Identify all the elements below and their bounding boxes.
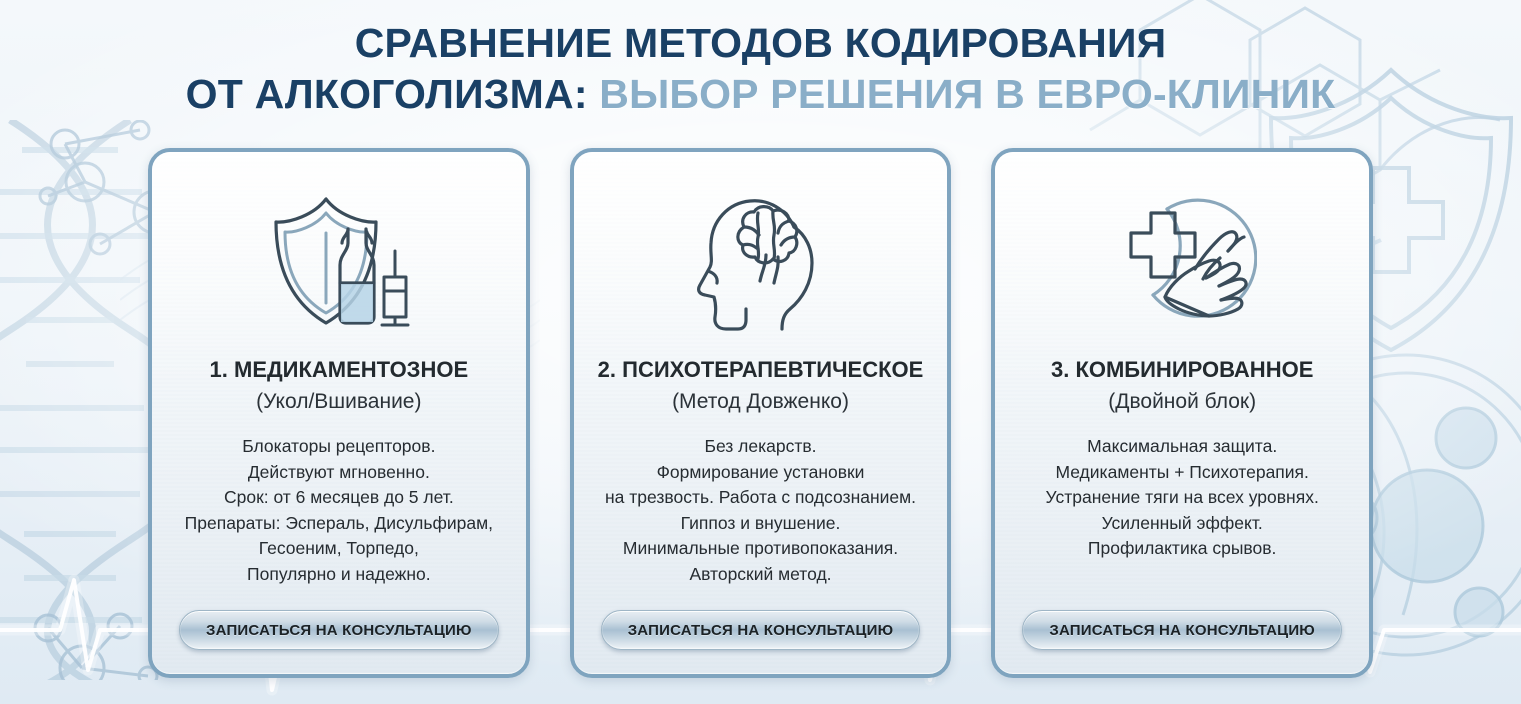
cta-wrapper: ЗАПИСАТЬСЯ НА КОНСУЛЬТАЦИЮ bbox=[152, 610, 526, 650]
method-cards-row: 1. МЕДИКАМЕНТОЗНОЕ (Укол/Вшивание) Блока… bbox=[148, 148, 1373, 678]
card-heading: 2. ПСИХОТЕРАПЕВТИЧЕСКОЕ bbox=[598, 356, 924, 384]
description-line: Усиленный эффект. bbox=[1046, 511, 1319, 537]
cross-helping-hands-icon bbox=[1107, 186, 1257, 336]
description-line: Максимальная защита. bbox=[1046, 434, 1319, 460]
shield-ampoule-syringe-icon bbox=[264, 186, 414, 336]
title-line-2-light: ВЫБОР РЕШЕНИЯ В ЕВРО-КЛИНИК bbox=[599, 71, 1335, 117]
description-line: Гиппоз и внушение. bbox=[605, 511, 916, 537]
description-line: Профилактика срывов. bbox=[1046, 536, 1319, 562]
description-line: Блокаторы рецепторов. bbox=[185, 434, 493, 460]
title-line-1: СРАВНЕНИЕ МЕТОДОВ КОДИРОВАНИЯ bbox=[0, 18, 1521, 69]
card-description: Максимальная защита. Медикаменты + Психо… bbox=[1036, 434, 1329, 562]
card-subheading: (Двойной блок) bbox=[1108, 388, 1256, 415]
description-line: Гесоеним, Торпедо, bbox=[185, 536, 493, 562]
description-line: Авторский метод. bbox=[605, 562, 916, 588]
description-line: Популярно и надежно. bbox=[185, 562, 493, 588]
description-line: Устранение тяги на всех уровнях. bbox=[1046, 485, 1319, 511]
page-title: СРАВНЕНИЕ МЕТОДОВ КОДИРОВАНИЯ ОТ АЛКОГОЛ… bbox=[0, 18, 1521, 120]
card-description: Без лекарств. Формирование установки на … bbox=[595, 434, 926, 587]
infographic-banner: СРАВНЕНИЕ МЕТОДОВ КОДИРОВАНИЯ ОТ АЛКОГОЛ… bbox=[0, 0, 1521, 704]
method-card-psychotherapeutic: 2. ПСИХОТЕРАПЕВТИЧЕСКОЕ (Метод Довженко)… bbox=[570, 148, 952, 678]
cta-wrapper: ЗАПИСАТЬСЯ НА КОНСУЛЬТАЦИЮ bbox=[995, 610, 1369, 650]
book-consultation-button[interactable]: ЗАПИСАТЬСЯ НА КОНСУЛЬТАЦИЮ bbox=[601, 610, 921, 650]
head-brain-icon bbox=[686, 186, 836, 336]
method-card-medicamentous: 1. МЕДИКАМЕНТОЗНОЕ (Укол/Вшивание) Блока… bbox=[148, 148, 530, 678]
card-heading: 1. МЕДИКАМЕНТОЗНОЕ bbox=[210, 356, 469, 384]
cta-wrapper: ЗАПИСАТЬСЯ НА КОНСУЛЬТАЦИЮ bbox=[574, 610, 948, 650]
book-consultation-button[interactable]: ЗАПИСАТЬСЯ НА КОНСУЛЬТАЦИЮ bbox=[1022, 610, 1342, 650]
description-line: Минимальные противопоказания. bbox=[605, 536, 916, 562]
title-line-2: ОТ АЛКОГОЛИЗМА: ВЫБОР РЕШЕНИЯ В ЕВРО-КЛИ… bbox=[0, 69, 1521, 120]
description-line: на трезвость. Работа с подсознанием. bbox=[605, 485, 916, 511]
description-line: Действуют мгновенно. bbox=[185, 460, 493, 486]
title-line-2-dark: ОТ АЛКОГОЛИЗМА: bbox=[186, 71, 600, 117]
card-subheading: (Укол/Вшивание) bbox=[256, 388, 421, 415]
book-consultation-button[interactable]: ЗАПИСАТЬСЯ НА КОНСУЛЬТАЦИЮ bbox=[179, 610, 499, 650]
card-subheading: (Метод Довженко) bbox=[672, 388, 849, 415]
description-line: Препараты: Эспераль, Дисульфирам, bbox=[185, 511, 493, 537]
card-description: Блокаторы рецепторов. Действуют мгновенн… bbox=[175, 434, 503, 587]
description-line: Без лекарств. bbox=[605, 434, 916, 460]
card-heading: 3. КОМБИНИРОВАННОЕ bbox=[1051, 356, 1313, 384]
method-card-combined: 3. КОМБИНИРОВАННОЕ (Двойной блок) Максим… bbox=[991, 148, 1373, 678]
description-line: Медикаменты + Психотерапия. bbox=[1046, 460, 1319, 486]
description-line: Срок: от 6 месяцев до 5 лет. bbox=[185, 485, 493, 511]
description-line: Формирование установки bbox=[605, 460, 916, 486]
